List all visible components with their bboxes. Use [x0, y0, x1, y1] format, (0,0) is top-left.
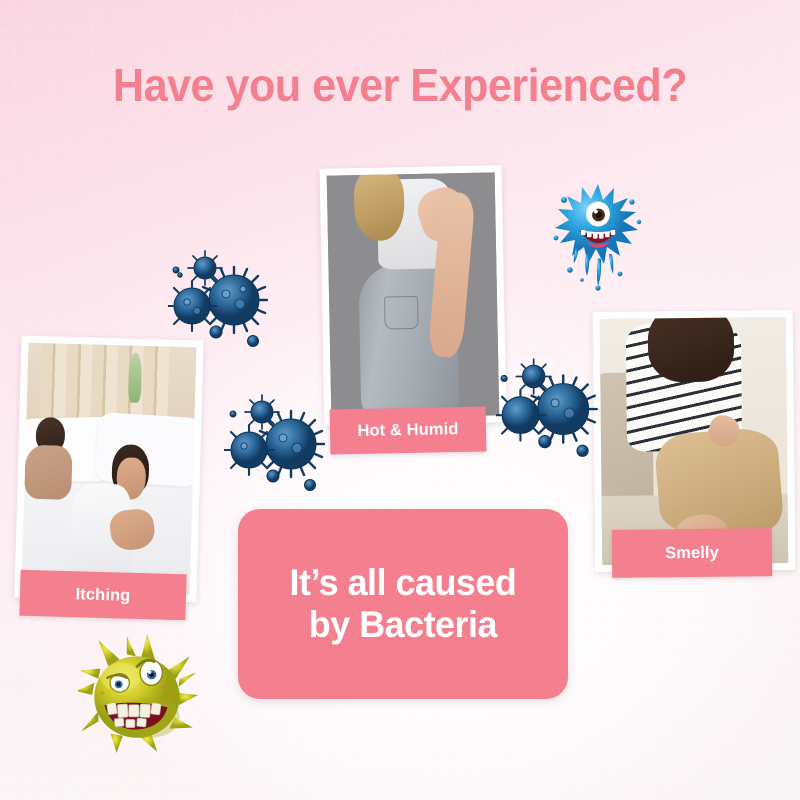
photo-card-hot-humid [320, 165, 507, 425]
blue-virus-cluster-icon [168, 248, 278, 348]
blue-splat-germ-icon [548, 176, 648, 296]
caption-smelly: Smelly [612, 528, 772, 578]
photo-card-itching [14, 336, 203, 603]
blue-virus-cluster-icon [496, 356, 608, 458]
photo-hair [353, 172, 405, 240]
caption-hot-humid: Hot & Humid [330, 407, 487, 455]
message-line-2: by Bacteria [309, 604, 497, 645]
caption-label: Smelly [665, 543, 719, 563]
photo-jeans-pocket [384, 295, 419, 329]
photo-plant [128, 353, 143, 403]
photo-window-blinds [40, 343, 170, 421]
photo-hot-humid [327, 172, 500, 418]
photo-hair [648, 317, 734, 382]
caption-label: Hot & Humid [357, 420, 458, 441]
message-line-1: It’s all caused [290, 562, 517, 603]
photo-person-back-body [24, 444, 73, 500]
blue-virus-cluster-icon [224, 392, 336, 492]
page-title: Have you ever Experienced? [24, 58, 776, 112]
message-text: It’s all caused by Bacteria [290, 562, 517, 646]
promotional-poster: Have you ever Experienced? Hot & Humid [0, 0, 800, 800]
yellow-spiky-germ-icon [78, 632, 200, 754]
caption-label: Itching [75, 585, 130, 606]
message-box: It’s all caused by Bacteria [238, 509, 568, 699]
caption-itching: Itching [19, 570, 186, 621]
photo-itching [22, 343, 197, 596]
